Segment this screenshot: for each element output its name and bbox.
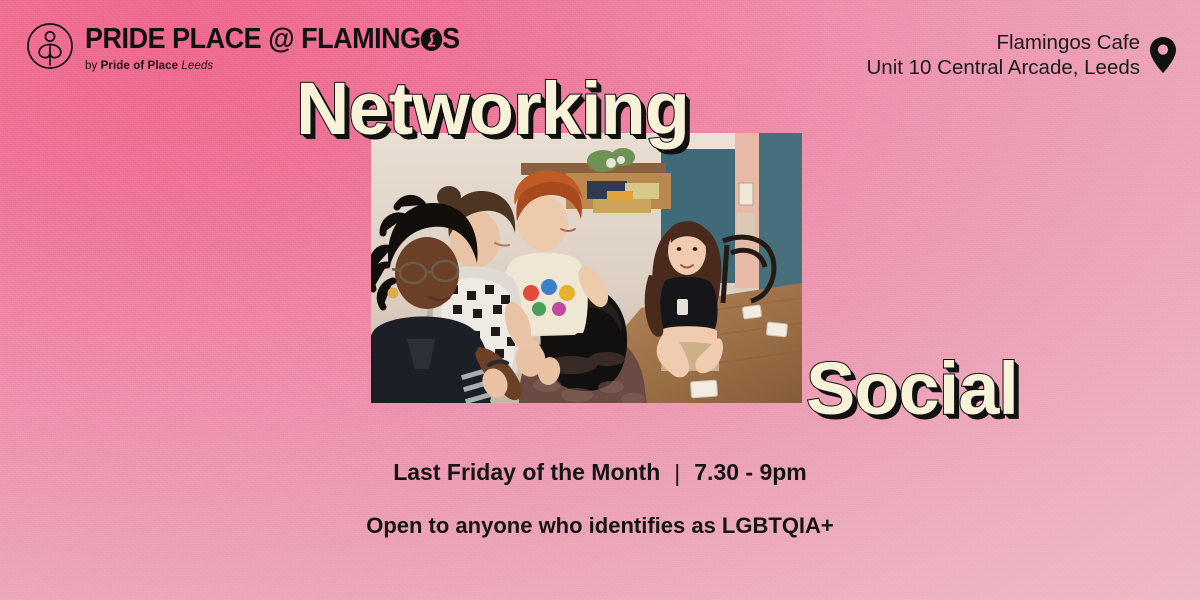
brand-subtitle-italic: Leeds [178, 60, 213, 72]
wordmark-text-after-flamingo: S [442, 25, 460, 54]
event-photo [371, 133, 802, 403]
inclusivity-line: Open to anyone who identifies as LGBTQIA… [0, 513, 1200, 539]
pride-place-flower-circle-icon [26, 22, 74, 70]
brand-text-block: PRIDE PLACE @ FLAMING S by Pride of Plac… [85, 22, 488, 72]
schedule-line: Last Friday of the Month|7.30 - 9pm [0, 459, 1200, 486]
brand-lockup: PRIDE PLACE @ FLAMING S by Pride of Plac… [26, 22, 488, 72]
schedule-separator: | [674, 460, 680, 487]
headline-word-networking: Networking [296, 72, 689, 146]
venue-name: Flamingos Cafe [867, 30, 1141, 55]
venue-block: Flamingos Cafe Unit 10 Central Arcade, L… [867, 30, 1179, 80]
schedule-time: 7.30 - 9pm [694, 459, 807, 485]
event-photo-illustration [371, 133, 802, 403]
event-flyer: PRIDE PLACE @ FLAMING S by Pride of Plac… [0, 0, 1200, 600]
flamingo-in-letter-o-icon [420, 27, 443, 52]
location-pin-icon [1148, 36, 1178, 74]
brand-subtitle-prefix: by [85, 60, 101, 72]
wordmark-text-before-flamingo: PRIDE PLACE @ FLAMING [85, 25, 421, 54]
schedule-text: Last Friday of the Month [393, 459, 660, 485]
brand-subtitle-bold: Pride of Place [101, 60, 178, 72]
brand-wordmark: PRIDE PLACE @ FLAMING S [85, 25, 460, 54]
venue-address: Unit 10 Central Arcade, Leeds [867, 55, 1141, 80]
venue-address-lines: Flamingos Cafe Unit 10 Central Arcade, L… [867, 30, 1141, 80]
headline-word-social: Social [806, 352, 1018, 426]
